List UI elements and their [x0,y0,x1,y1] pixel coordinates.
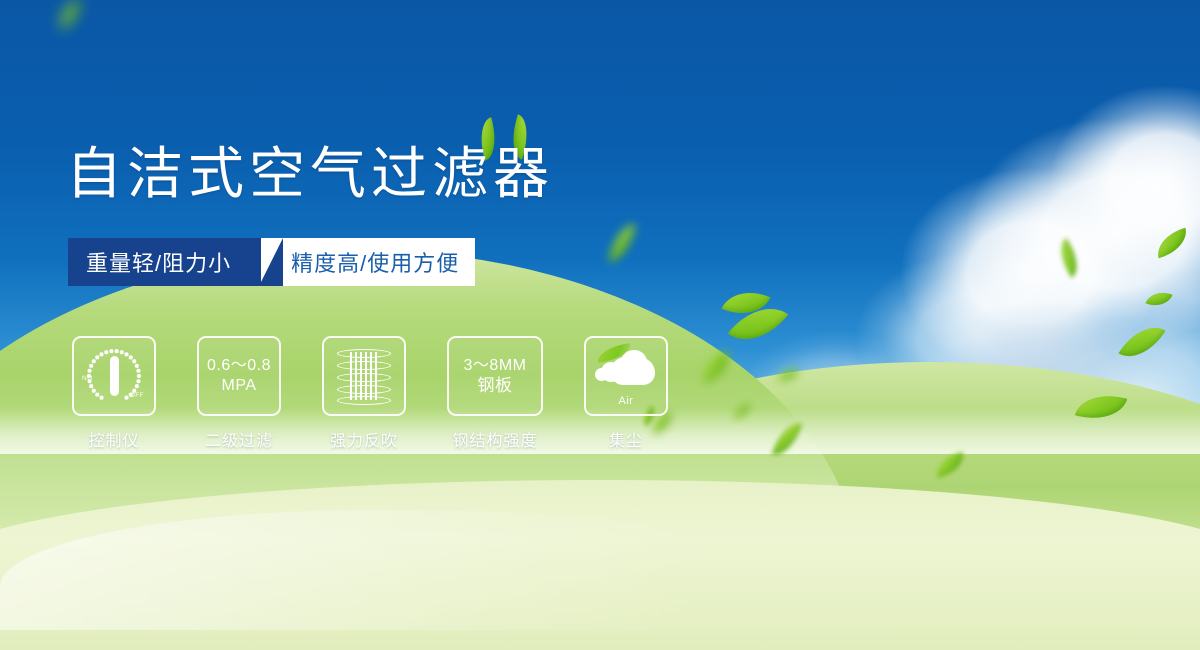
floating-leaf [608,220,636,265]
cartridge-bars [350,352,378,400]
feature-item-strong-blowback[interactable]: 强力反吹 [322,336,406,451]
feature-label: 二级过滤 [197,427,281,451]
steel-thickness-text: 3～8MM [464,356,527,376]
feature-tagline-bar: 重量轻/阻力小 精度高/使用方便 [68,238,464,286]
air-label: Air [595,395,657,407]
feature-item-steel-strength[interactable]: 3～8MM 钢板 钢结构强度 [447,336,543,451]
floating-leaf [1145,287,1172,312]
floating-leaf [728,292,788,355]
cloud-shape [965,118,1200,348]
feature-item-controller[interactable]: NO OFF 控制仪 [72,336,156,451]
air-cloud-icon: Air [595,349,657,403]
feature-label: 钢结构强度 [447,427,543,451]
grass-field [0,440,1200,650]
tagline-secondary: 精度高/使用方便 [261,238,475,286]
feature-icon-box: Air [584,336,668,416]
feature-label: 集尘 [584,427,668,451]
feature-item-dust-collection[interactable]: Air 集尘 [584,336,668,451]
filter-cartridge-icon [337,347,391,405]
feature-icon-box: 3～8MM 钢板 [447,336,543,416]
feature-icon-box [322,336,406,416]
feature-icon-box: NO OFF [72,336,156,416]
feature-item-two-stage-filter[interactable]: 0.6～0.8 MPA 二级过滤 [197,336,281,451]
pressure-unit-text: MPA [222,376,257,396]
product-hero-banner: 自洁式空气过滤器 重量轻/阻力小 精度高/使用方便 NO OFF 控制仪 0.6… [0,0,1200,650]
gauge-label-off: OFF [130,392,144,399]
gauge-label-no: NO [82,375,93,382]
floating-leaf [722,281,771,325]
floating-leaf [1118,316,1165,368]
cloud-shape [1090,210,1200,390]
page-title: 自洁式空气过滤器 [66,142,554,206]
floating-leaf [1051,238,1086,278]
feature-label: 控制仪 [72,427,156,451]
tagline-primary: 重量轻/阻力小 [68,238,261,286]
gauge-dial-icon: NO OFF [83,347,145,405]
cloud-shape [1050,85,1200,275]
steel-plate-text: 钢板 [478,376,513,396]
cloud-shape [900,168,1160,378]
floating-leaf [1153,228,1192,259]
floating-leaf [52,0,88,30]
feature-icon-box: 0.6～0.8 MPA [197,336,281,416]
feature-icon-row: NO OFF 控制仪 0.6～0.8 MPA 二级过滤 [72,336,668,451]
pressure-range-text: 0.6～0.8 [207,356,271,376]
feature-label: 强力反吹 [322,427,406,451]
gauge-needle [110,356,119,396]
